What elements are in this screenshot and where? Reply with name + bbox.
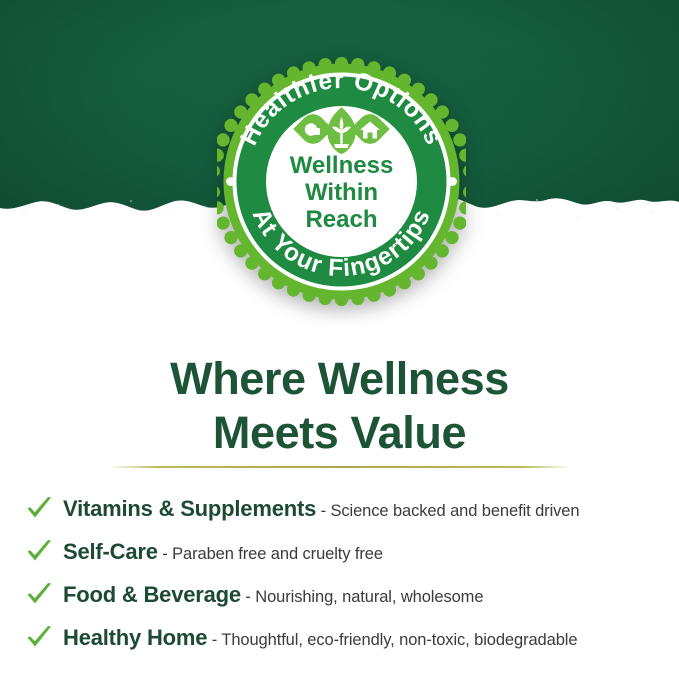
page-title: Where Wellness Meets Value	[0, 352, 679, 460]
headline-divider	[111, 466, 569, 468]
check-icon	[24, 494, 54, 524]
list-item-desc: - Thoughtful, eco-friendly, non-toxic, b…	[212, 631, 578, 649]
wellness-badge: Healthier Options At Your Fingertips	[217, 57, 466, 306]
badge-center-line-1: Wellness	[290, 152, 394, 179]
list-item-text: Healthy Home - Thoughtful, eco-friendly,…	[63, 625, 577, 651]
headline-line-1: Where Wellness	[0, 352, 679, 406]
check-icon	[24, 537, 54, 567]
list-item-desc: - Paraben free and cruelty free	[162, 545, 383, 563]
check-icon	[24, 580, 54, 610]
list-item-title: Healthy Home	[63, 625, 207, 650]
list-item: Food & Beverage - Nourishing, natural, w…	[0, 573, 679, 616]
list-item-title: Vitamins & Supplements	[63, 496, 316, 521]
list-item: Vitamins & Supplements - Science backed …	[0, 487, 679, 530]
benefit-list: Vitamins & Supplements - Science backed …	[0, 487, 679, 659]
headline-line-2: Meets Value	[0, 406, 679, 460]
badge-center-line-2: Within	[305, 179, 378, 206]
check-icon	[24, 623, 54, 653]
list-item: Healthy Home - Thoughtful, eco-friendly,…	[0, 616, 679, 659]
badge-dot-right	[448, 177, 457, 186]
list-item-text: Vitamins & Supplements - Science backed …	[63, 496, 579, 522]
list-item-title: Self-Care	[63, 539, 158, 564]
badge-center-line-3: Reach	[305, 206, 377, 233]
list-item-desc: - Nourishing, natural, wholesome	[245, 588, 483, 606]
list-item: Self-Care - Paraben free and cruelty fre…	[0, 530, 679, 573]
badge-dot-left	[226, 177, 235, 186]
list-item-desc: - Science backed and benefit driven	[321, 502, 580, 520]
promo-banner: Healthier Options At Your Fingertips	[0, 0, 679, 679]
list-item-title: Food & Beverage	[63, 582, 241, 607]
list-item-text: Food & Beverage - Nourishing, natural, w…	[63, 582, 483, 608]
list-item-text: Self-Care - Paraben free and cruelty fre…	[63, 539, 383, 565]
